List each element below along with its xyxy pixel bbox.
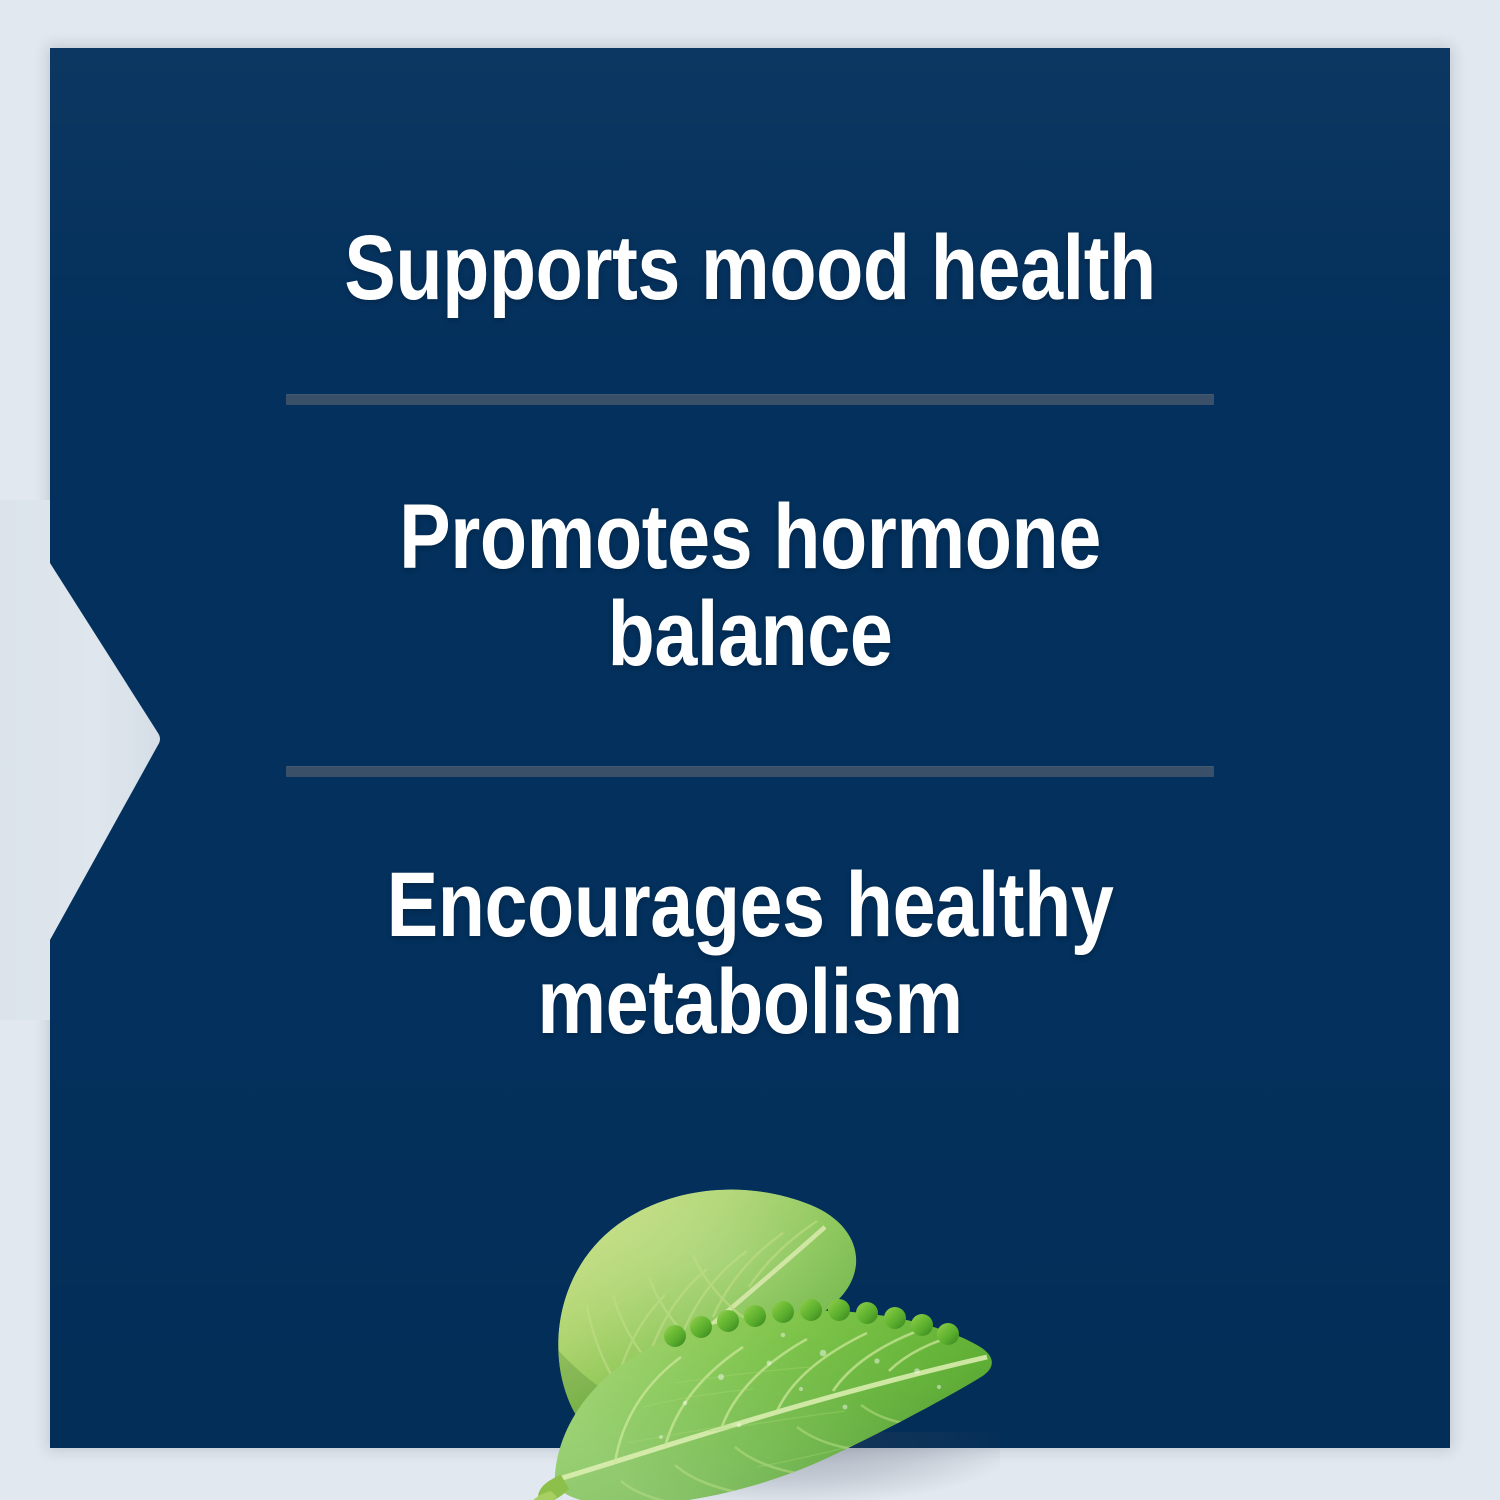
benefit-label-hormone: Promotes hormone balance <box>305 489 1195 684</box>
benefit-label-metabolism: Encourages healthy metabolism <box>305 857 1195 1052</box>
benefit-divider-2 <box>286 766 1214 777</box>
product-benefits-graphic: Supports mood health Promotes hormone ba… <box>0 0 1500 1500</box>
benefit-item-metabolism: Encourages healthy metabolism <box>50 857 1450 1052</box>
benefit-label-mood: Supports mood health <box>305 220 1195 318</box>
benefit-divider-1 <box>286 394 1214 405</box>
basil-leaves-image <box>525 1175 1045 1500</box>
benefits-list: Supports mood health Promotes hormone ba… <box>50 48 1450 1228</box>
benefit-item-hormone: Promotes hormone balance <box>50 489 1450 684</box>
benefit-item-mood: Supports mood health <box>50 220 1450 318</box>
